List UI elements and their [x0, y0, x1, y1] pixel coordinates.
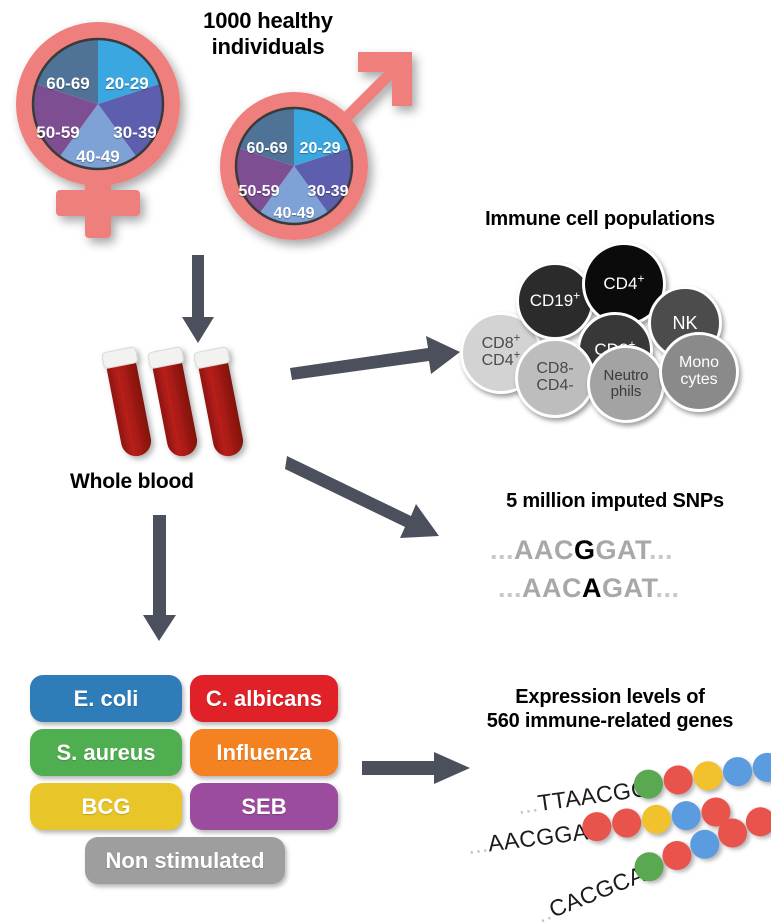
- immune-cell-monocytes: Mono cytes: [659, 332, 739, 412]
- male-age-pie: [236, 108, 352, 224]
- stimulus-non-stimulated[interactable]: Non stimulated: [85, 837, 285, 884]
- snp-prefix: ...: [498, 573, 522, 603]
- snps-title: 5 million imputed SNPs: [470, 490, 760, 514]
- snp-right: GAT: [596, 535, 650, 565]
- expression-bead: [670, 800, 702, 832]
- expression-bead: [751, 751, 771, 784]
- arrow-blood-to-stimuli: [140, 515, 180, 645]
- expression-bead: [640, 803, 672, 835]
- expression-bead: [662, 764, 695, 797]
- blood-tube: [102, 347, 156, 460]
- arrow-cohort-to-blood: [178, 255, 218, 345]
- cell-line1: NK: [672, 314, 697, 333]
- cell-line1: CD4+: [603, 275, 644, 293]
- stimulus-seb[interactable]: SEB: [190, 783, 338, 830]
- expression-title-line2: 560 immune-related genes: [455, 710, 765, 734]
- snp-prefix: ...: [490, 535, 514, 565]
- snp-sequence-row: ...AACGGAT...: [490, 535, 673, 566]
- female-symbol: 20-29 30-39 40-49 50-59 60-69: [6, 14, 216, 242]
- expression-bead: [721, 755, 754, 788]
- diagram-canvas: 1000 healthy individuals: [0, 0, 771, 922]
- immune-cell-cluster: CD8+ CD4+ CD19+ CD4+ CD8+ NK CD8- CD4- N…: [460, 240, 760, 415]
- female-age-pie: [33, 39, 163, 169]
- expression-bead: [610, 807, 642, 839]
- snp-highlight: G: [574, 535, 596, 565]
- stimuli-panel: E. coli C. albicans S. aureus Influenza …: [30, 675, 350, 895]
- snp-sequence-row: ...AACAGAT...: [498, 573, 680, 604]
- expression-title: Expression levels of 560 immune-related …: [455, 686, 765, 733]
- stimulus-c-albicans[interactable]: C. albicans: [190, 675, 338, 722]
- snp-left: AAC: [522, 573, 582, 603]
- male-symbol: 20-29 30-39 40-49 50-59 60-69: [208, 50, 424, 250]
- stimulus-s-aureus[interactable]: S. aureus: [30, 729, 182, 776]
- snp-right: GAT: [602, 573, 656, 603]
- arrow-blood-to-snps: [285, 450, 460, 550]
- stimulus-bcg[interactable]: BCG: [30, 783, 182, 830]
- expression-title-line1: Expression levels of: [455, 686, 765, 710]
- cell-line1: Neutro: [603, 368, 648, 384]
- cell-line2: CD4+: [482, 353, 521, 370]
- snp-highlight: A: [582, 573, 602, 603]
- cell-line1: CD19+: [530, 292, 581, 310]
- cell-line1: Mono: [679, 355, 719, 372]
- snp-sequences: ...AACGGAT... ...AACAGAT...: [490, 535, 750, 615]
- cell-line2: cytes: [679, 372, 719, 389]
- stimulus-influenza[interactable]: Influenza: [190, 729, 338, 776]
- immune-title: Immune cell populations: [440, 208, 760, 232]
- snp-suffix: ...: [649, 535, 673, 565]
- blood-tube: [194, 347, 248, 460]
- stimulus-e-coli[interactable]: E. coli: [30, 675, 182, 722]
- immune-cell-neutrophils: Neutro phils: [587, 345, 665, 423]
- cell-line1: CD8-: [536, 361, 573, 378]
- expression-strands: ...TTAACGG ...AACGGAT ...CACGCAA: [440, 745, 771, 920]
- blood-tube: [148, 347, 202, 460]
- arrow-blood-to-immune: [288, 330, 463, 380]
- snp-suffix: ...: [656, 573, 680, 603]
- cell-line2: phils: [603, 384, 648, 400]
- cell-line2: CD4-: [536, 378, 573, 395]
- blood-tubes: [98, 345, 268, 465]
- snp-left: AAC: [514, 535, 574, 565]
- expression-bead: [691, 759, 724, 792]
- whole-blood-label: Whole blood: [70, 470, 250, 495]
- immune-cell-cd8neg-cd4neg: CD8- CD4-: [515, 338, 595, 418]
